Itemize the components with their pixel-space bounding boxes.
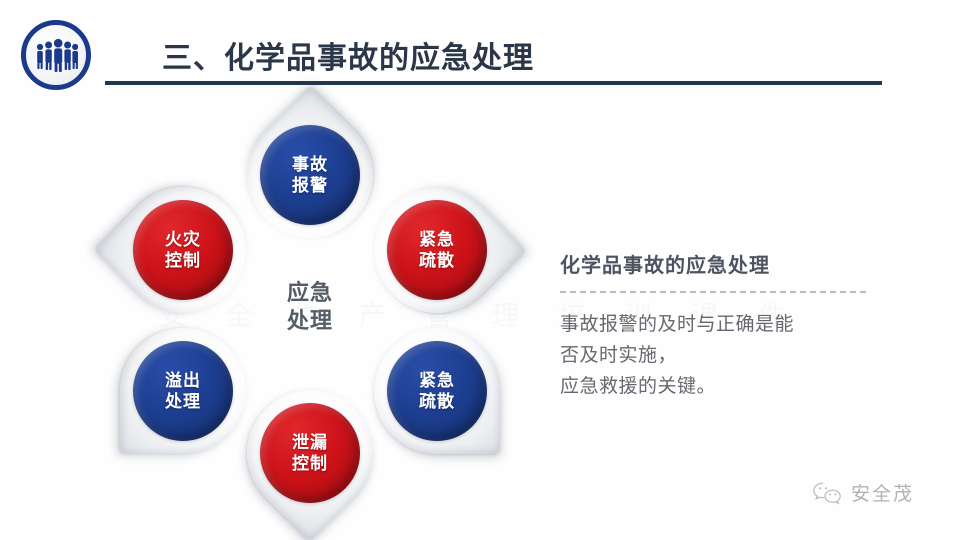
wechat-watermark: 安全茂 <box>812 479 914 506</box>
panel-heading: 化学品事故的应急处理 <box>560 249 890 278</box>
panel-body-text: 事故报警的及时与正确是能 否及时实施， 应急救援的关键。 <box>560 309 890 402</box>
petal-label: 泄漏 控制 <box>292 432 328 474</box>
petal-spill-treatment[interactable]: 溢出 处理 <box>120 328 246 454</box>
wechat-account-name: 安全茂 <box>851 479 914 506</box>
title-underline-rule <box>105 81 882 85</box>
petal-disc: 泄漏 控制 <box>260 403 360 503</box>
people-group-icon <box>21 20 91 90</box>
wechat-icon <box>812 481 842 505</box>
description-panel: 化学品事故的应急处理 事故报警的及时与正确是能 否及时实施， 应急救援的关键。 <box>560 249 890 402</box>
petal-emergency-evacuation-top[interactable]: 紧急 疏散 <box>374 187 500 313</box>
petal-accident-alarm[interactable]: 事故 报警 <box>247 112 373 238</box>
petal-disc: 火灾 控制 <box>133 200 233 300</box>
diagram-center-label: 应急 处理 <box>246 263 374 351</box>
page-title: 三、化学品事故的应急处理 <box>162 33 534 77</box>
petal-disc: 溢出 处理 <box>133 341 233 441</box>
petal-disc: 紧急 疏散 <box>387 200 487 300</box>
petal-emergency-evacuation-bottom[interactable]: 紧急 疏散 <box>374 328 500 454</box>
petal-label: 紧急 疏散 <box>419 229 455 271</box>
petal-disc: 紧急 疏散 <box>387 341 487 441</box>
petal-label: 溢出 处理 <box>165 370 201 412</box>
slide-canvas: 安 全 生 产 管 理 培 训 课 件 <box>0 0 960 540</box>
petal-label: 事故 报警 <box>292 154 328 196</box>
panel-dashed-divider <box>560 291 866 293</box>
petal-fire-control[interactable]: 火灾 控制 <box>120 187 246 313</box>
petal-label: 紧急 疏散 <box>419 370 455 412</box>
petal-disc: 事故 报警 <box>260 125 360 225</box>
emergency-response-petal-diagram: 事故 报警 火灾 控制 紧急 疏散 溢出 处理 紧急 疏散 <box>100 100 520 500</box>
petal-leak-control[interactable]: 泄漏 控制 <box>247 390 373 516</box>
petal-label: 火灾 控制 <box>165 229 201 271</box>
